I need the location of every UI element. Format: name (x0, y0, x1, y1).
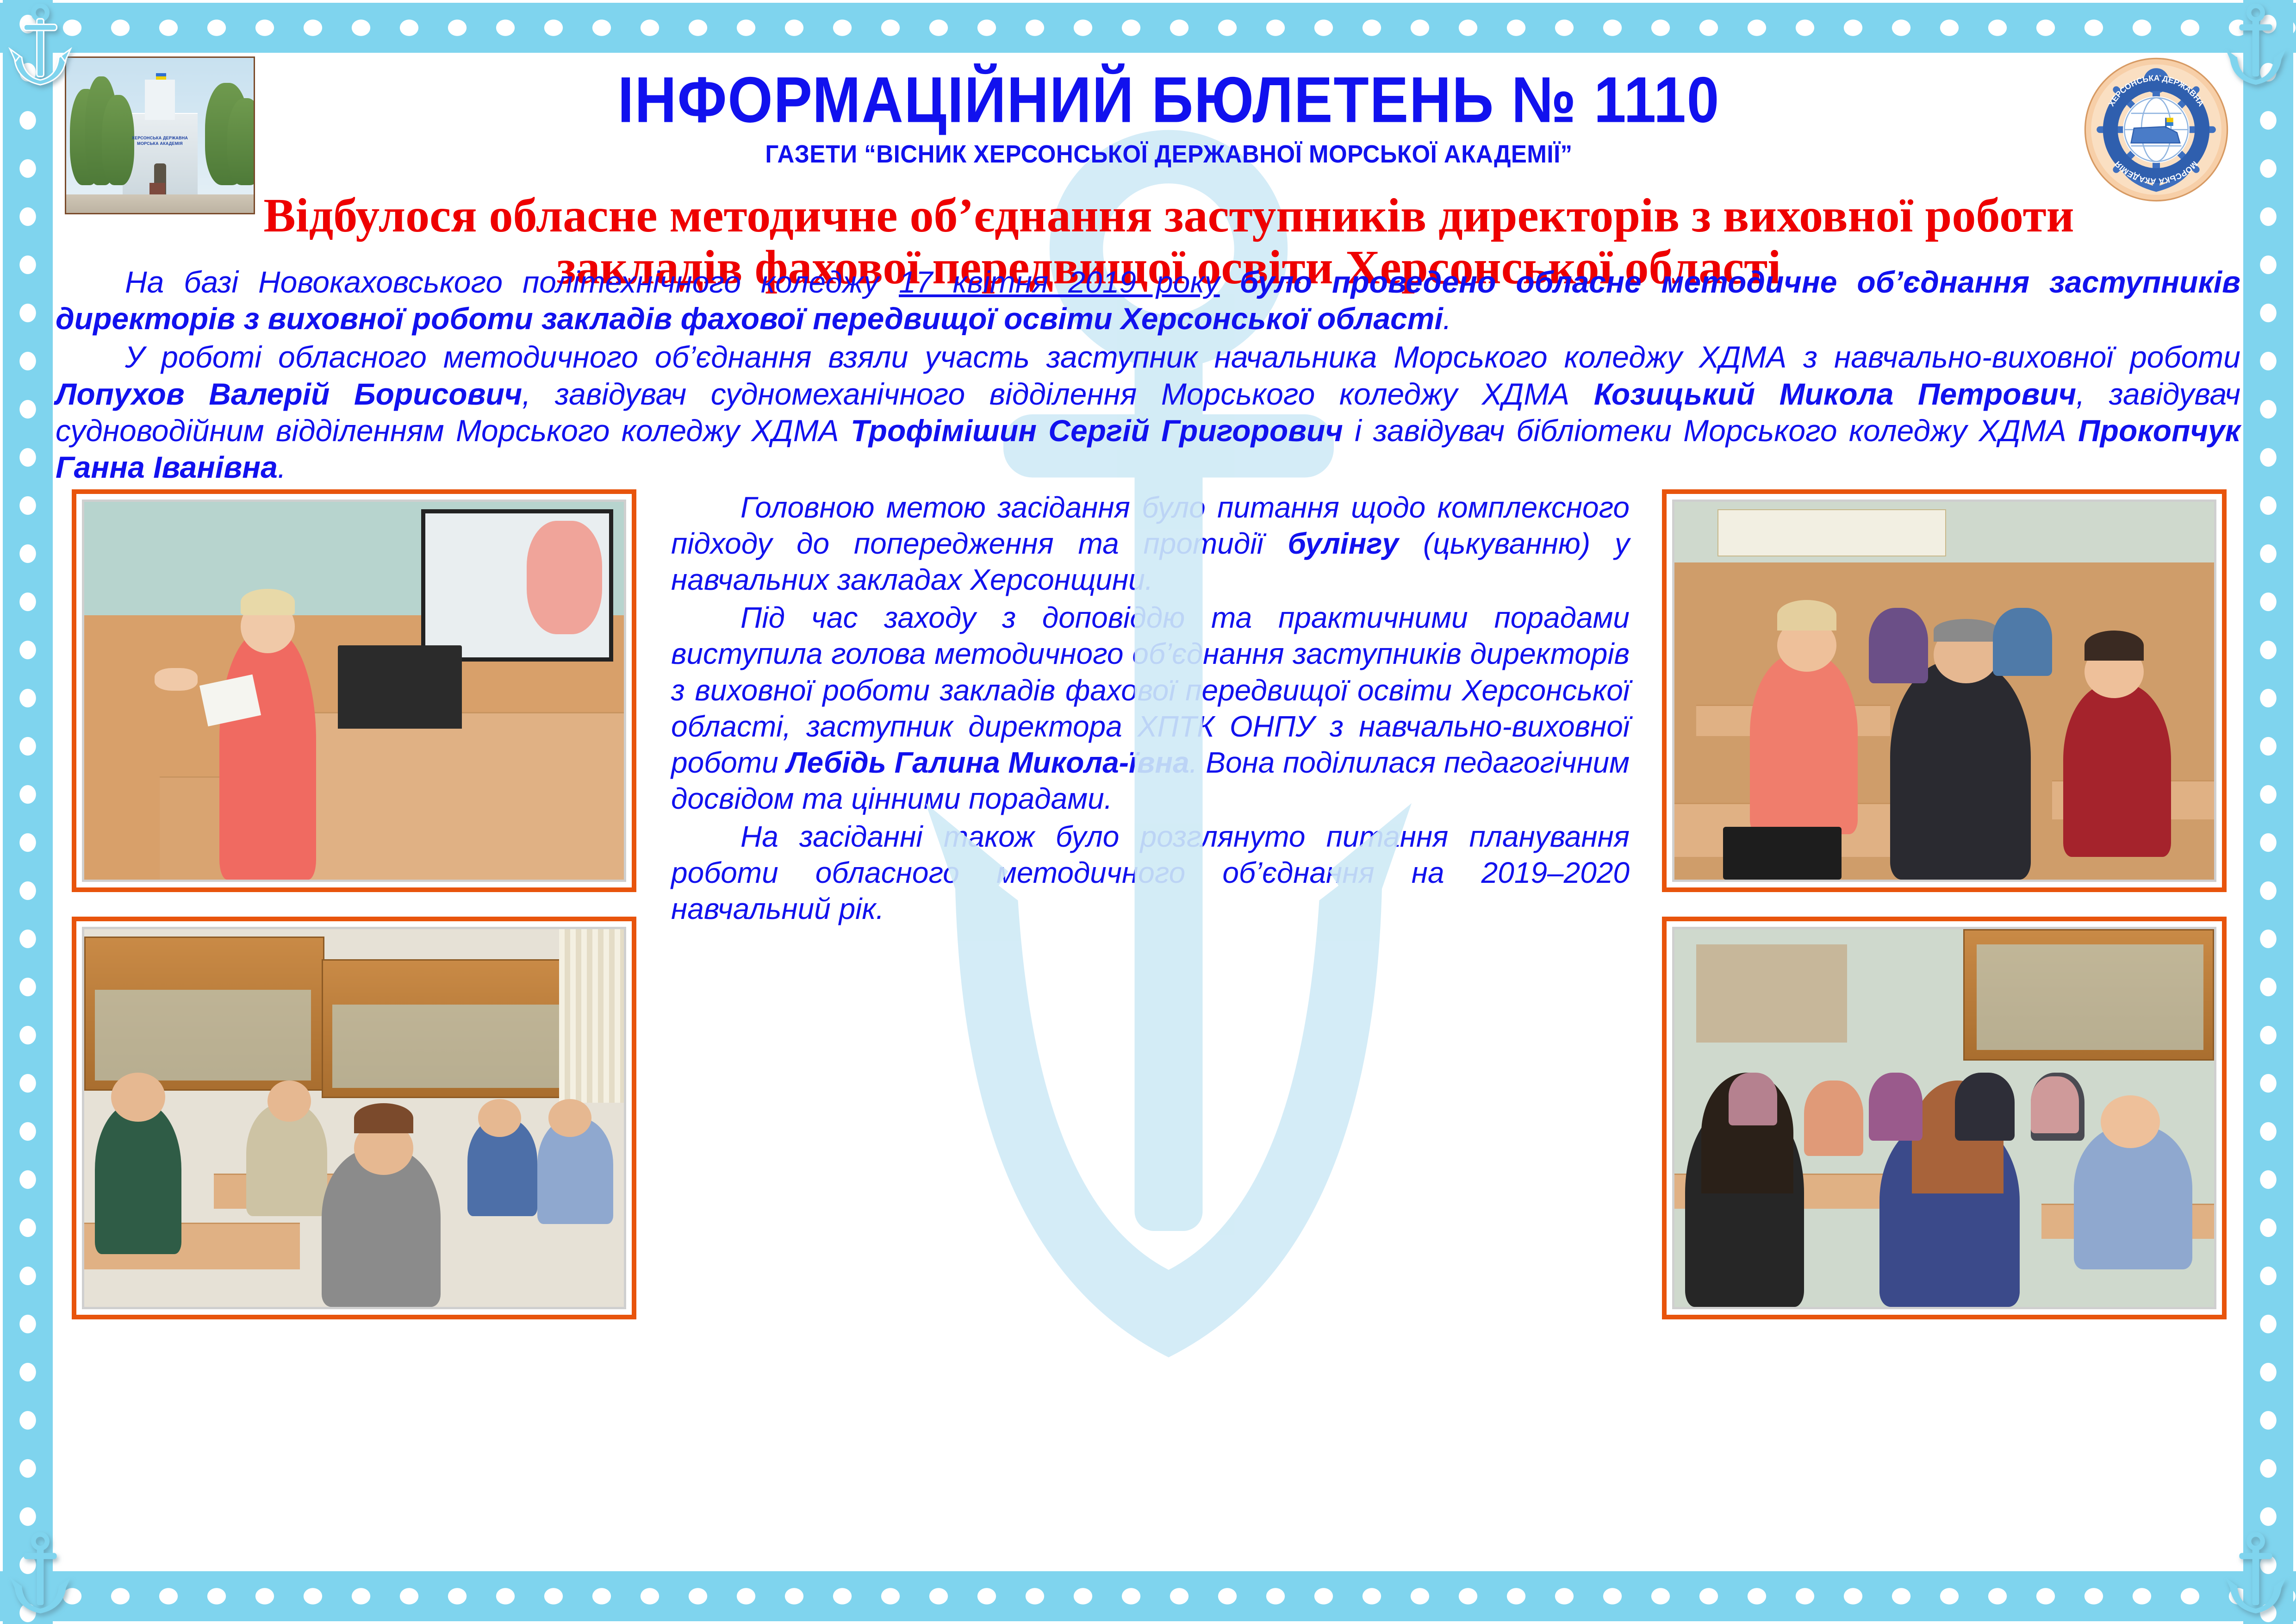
centre-text-column: Головною метою засідання було питання що… (671, 489, 1630, 929)
paragraph-3: Головною метою засідання було питання що… (671, 489, 1630, 598)
publisher-credit: Редакційно-видавничий відділ ХДМА (1869, 1583, 2194, 1605)
bulletin-content: ХЕРСОНСЬКА ДЕРЖАВНА МОРСЬКА АКАДЕМІЯ (56, 51, 2240, 1574)
p2-name-kozytskyi: Козицький Микола Петрович (1594, 377, 2076, 411)
masthead: ХЕРСОНСЬКА ДЕРЖАВНА МОРСЬКА АКАДЕМІЯ (56, 51, 2240, 250)
building-caption: ХЕРСОНСЬКА ДЕРЖАВНА МОРСЬКА АКАДЕМІЯ (128, 136, 192, 146)
p2-name-lopukhov: Лопухов Валерій Борисович (56, 377, 522, 411)
left-photo-column (72, 489, 636, 1344)
photo-speaker-at-lectern (72, 489, 636, 892)
chain-border-left (3, 0, 53, 1624)
p2-text-d: і завідувач бібліотеки Морського коледжу… (1343, 413, 2078, 448)
paragraph-2: У роботі обласного методичного об’єднанн… (56, 339, 2240, 486)
chain-border-top (0, 3, 2296, 53)
photos-and-text-region: Головною метою засідання було питання що… (56, 489, 2240, 1355)
paragraph-4: Під час заходу з доповіддю та практичним… (671, 600, 1630, 816)
title-block: ІНФОРМАЦІЙНИЙ БЮЛЕТЕНЬ № 1110 ГАЗЕТИ “ВІ… (273, 51, 2065, 168)
p1-text-end: . (1443, 301, 1451, 336)
p2-text-a: У роботі обласного методичного об’єднанн… (125, 340, 2240, 374)
paragraph-5: На засіданні також було розглянуто питан… (671, 818, 1630, 927)
p3-bold-bullying: булінгу (1288, 527, 1399, 560)
p2-name-trofimishyn: Трофімішин Сергій Григорович (851, 413, 1343, 448)
page-subtitle: ГАЗЕТИ “ВІСНИК ХЕРСОНСЬКОЇ ДЕРЖАВНОЇ МОР… (273, 139, 2065, 169)
photo-large-audience (1662, 917, 2227, 1319)
p2-text-b: , завідувач судномеханічного відділення … (522, 377, 1594, 411)
p1-date: 17 квітня 2019 року (899, 265, 1220, 299)
p2-text-end: . (278, 450, 286, 484)
chain-border-right (2243, 0, 2293, 1624)
p4-name-lebid: Лебідь Галина Микола-ївна (786, 746, 1189, 779)
hdma-emblem-logo: ХЕРСОНСЬКА ДЕРЖАВНА МОРСЬКА АКАДЕМІЯ (2082, 56, 2230, 204)
article-body: На базі Новокаховського політехнічного к… (56, 264, 2240, 486)
academy-building-photo: ХЕРСОНСЬКА ДЕРЖАВНА МОРСЬКА АКАДЕМІЯ (65, 56, 255, 214)
right-photo-column (1662, 489, 2227, 1344)
photo-front-row-attendees (1662, 489, 2227, 892)
p1-text-a: На базі Новокаховського політехнічного к… (125, 265, 899, 299)
photo-classroom-audience (72, 917, 636, 1319)
page-title: ІНФОРМАЦІЙНИЙ БЮЛЕТЕНЬ № 1110 (273, 68, 2065, 132)
paragraph-1: На базі Новокаховського політехнічного к… (56, 264, 2240, 337)
